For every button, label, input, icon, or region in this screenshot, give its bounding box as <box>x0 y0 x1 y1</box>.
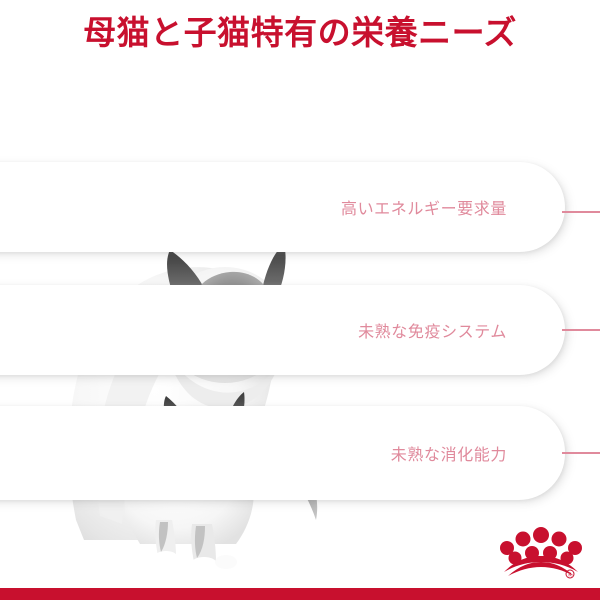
footer-red-bar <box>0 588 600 600</box>
callout-label-digestion: 未熟な消化能力 <box>391 441 507 465</box>
callout-connector-immunity <box>562 329 600 331</box>
page-title: 母猫と子猫特有の栄養ニーズ <box>0 12 600 54</box>
callout-card-immunity: 未熟な免疫システム <box>0 285 565 375</box>
callout-card-energy: 高いエネルギー要求量 <box>0 162 565 252</box>
callout-connector-energy <box>562 211 600 213</box>
svg-text:R: R <box>568 573 572 579</box>
royal-canin-crown-logo: R <box>498 524 584 582</box>
callout-label-immunity: 未熟な免疫システム <box>358 318 507 342</box>
callout-card-digestion: 未熟な消化能力 <box>0 406 565 500</box>
callout-label-energy: 高いエネルギー要求量 <box>341 195 507 219</box>
poster-page: 母猫と子猫特有の栄養ニーズ <box>0 0 600 600</box>
callout-connector-digestion <box>562 452 600 454</box>
